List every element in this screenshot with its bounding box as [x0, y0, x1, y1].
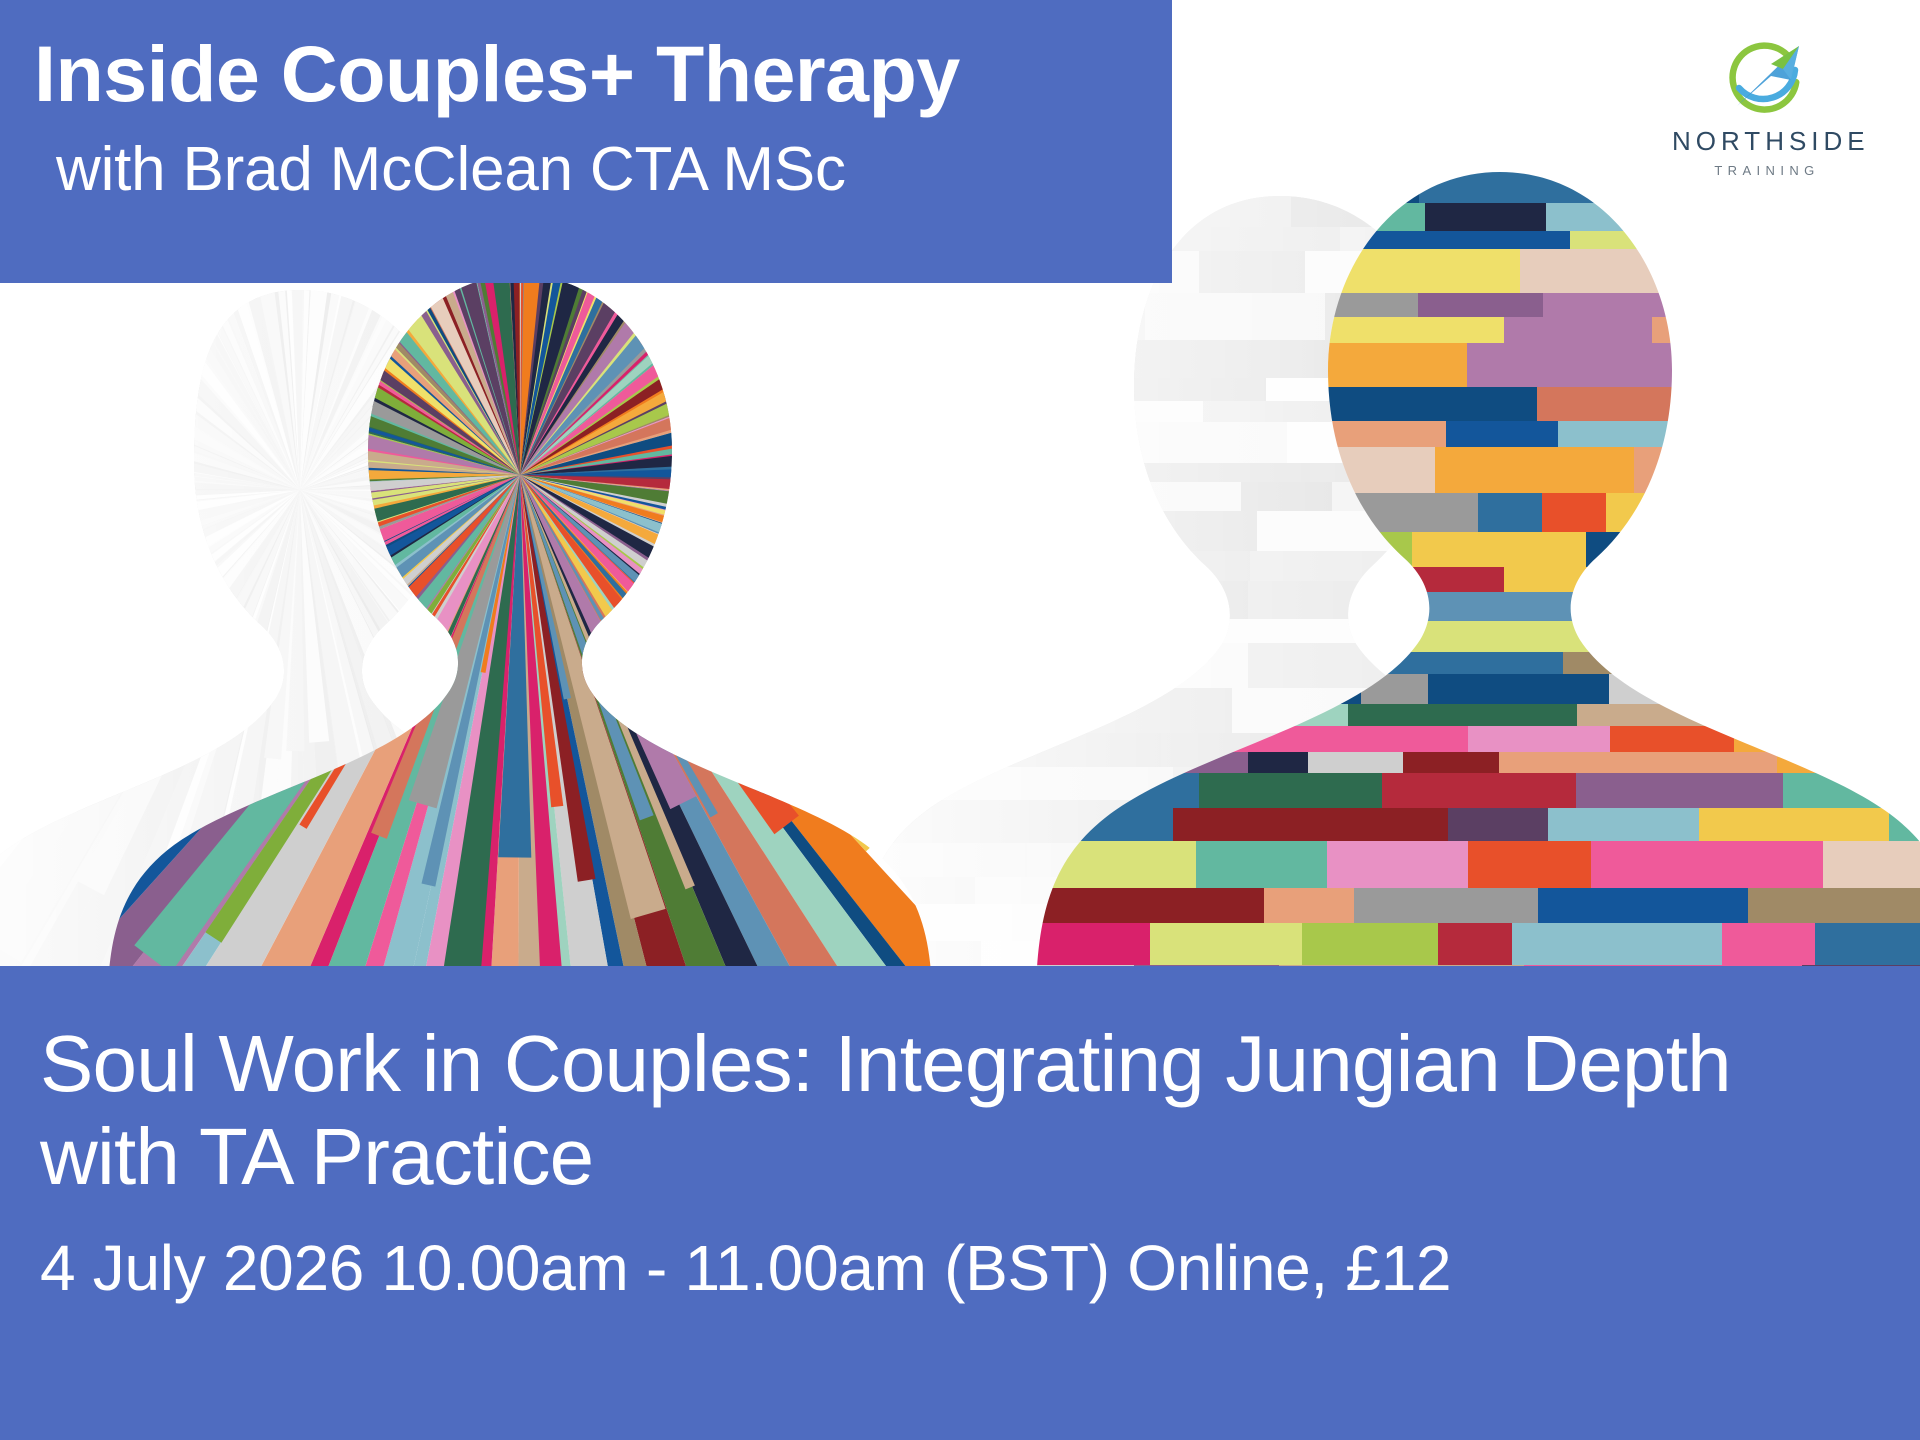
page-title: Inside Couples+ Therapy [34, 34, 1172, 113]
northside-compass-arrow-icon [1721, 36, 1813, 124]
northside-training-logo: NORTHSIDE TRAINING [1672, 36, 1862, 178]
promotional-poster: Inside Couples+ Therapy with Brad McClea… [0, 0, 1920, 1440]
header-banner: Inside Couples+ Therapy with Brad McClea… [0, 0, 1172, 283]
footer-banner: Soul Work in Couples: Integrating Jungia… [0, 966, 1920, 1440]
presenter-subtitle: with Brad McClean CTA MSc [56, 139, 1172, 201]
event-details: 4 July 2026 10.00am - 11.00am (BST) Onli… [40, 1236, 1920, 1300]
logo-tagline: TRAINING [1672, 163, 1862, 178]
logo-wordmark: NORTHSIDE [1672, 126, 1862, 157]
event-title: Soul Work in Couples: Integrating Jungia… [40, 1018, 1740, 1204]
